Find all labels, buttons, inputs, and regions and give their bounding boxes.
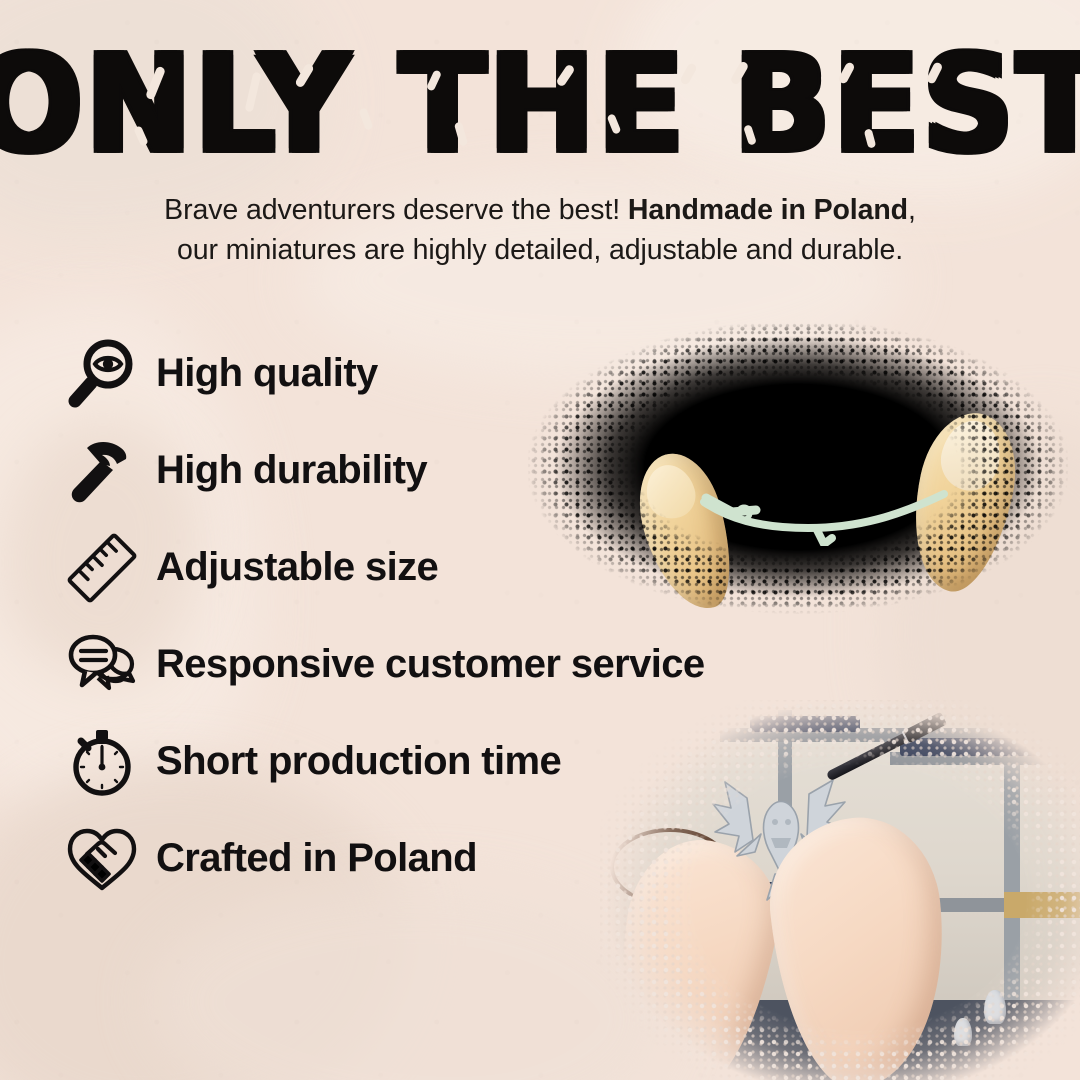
feature-label: Crafted in Poland: [156, 836, 477, 881]
chat-bubbles-icon: [62, 625, 142, 705]
subtitle-line2: our miniatures are highly detailed, adju…: [177, 234, 903, 266]
page-title: ONLY THE BEST: [0, 38, 1080, 154]
subtitle-line1-tail: ,: [908, 194, 916, 226]
flexible-miniature-photo: [528, 312, 1068, 622]
promo-graphic: ONLY THE BEST Brave adventurers deserve …: [0, 0, 1080, 1080]
background-wash: [150, 880, 670, 1080]
fingernail: [640, 459, 701, 524]
stopwatch-icon: [62, 722, 142, 802]
subtitle-bold-phrase: Handmade in Poland: [628, 194, 908, 226]
feature-label: High durability: [156, 448, 427, 493]
wood-board: [1004, 892, 1080, 918]
list-item: Responsive customer service: [62, 616, 802, 713]
unpainted-miniature: [954, 1018, 972, 1046]
photo-scene: [600, 700, 1080, 1080]
unpainted-miniature: [984, 990, 1006, 1024]
workshop-painting-photo: [600, 700, 1080, 1080]
paint-tray: [750, 716, 860, 732]
feature-label: Adjustable size: [156, 545, 438, 590]
feature-label: Short production time: [156, 739, 561, 784]
subtitle: Brave adventurers deserve the best! Hand…: [60, 190, 1020, 271]
feature-label: Responsive customer service: [156, 642, 705, 687]
fingernail: [935, 415, 1006, 496]
mint-miniature-part: [698, 488, 950, 546]
subtitle-line1-lead: Brave adventurers deserve the best!: [164, 194, 628, 226]
handshake-heart-icon: [62, 819, 142, 899]
ruler-icon: [62, 528, 142, 608]
feature-label: High quality: [156, 351, 378, 396]
magnifier-eye-icon: [62, 334, 142, 414]
page-title-text: ONLY THE BEST: [0, 38, 1080, 173]
paint-tray: [900, 738, 1070, 756]
hammer-icon: [62, 431, 142, 511]
